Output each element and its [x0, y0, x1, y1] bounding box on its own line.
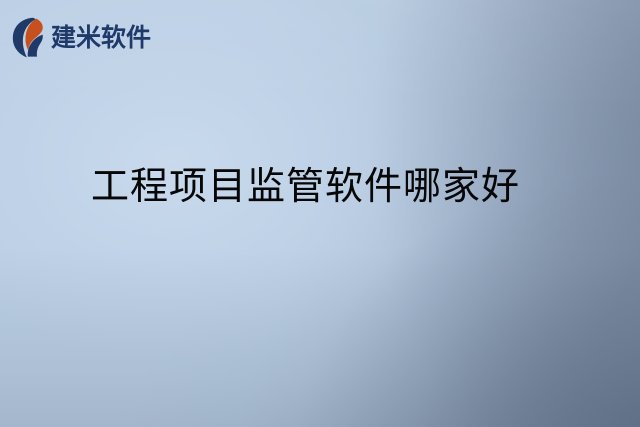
background-right-shading: [0, 0, 640, 427]
background-bottom-shading: [0, 0, 640, 427]
brand-name-text: 建米软件: [51, 25, 151, 50]
background-base-gradient: [0, 0, 640, 427]
brand-logo: 建米软件: [12, 16, 151, 58]
background-corner-shading: [0, 0, 640, 427]
background-highlight-glow: [0, 0, 640, 427]
banner-canvas: 建米软件 工程项目监管软件哪家好: [0, 0, 640, 427]
page-title: 工程项目监管软件哪家好: [91, 163, 520, 211]
leaf-flame-logo-icon: [12, 17, 49, 58]
